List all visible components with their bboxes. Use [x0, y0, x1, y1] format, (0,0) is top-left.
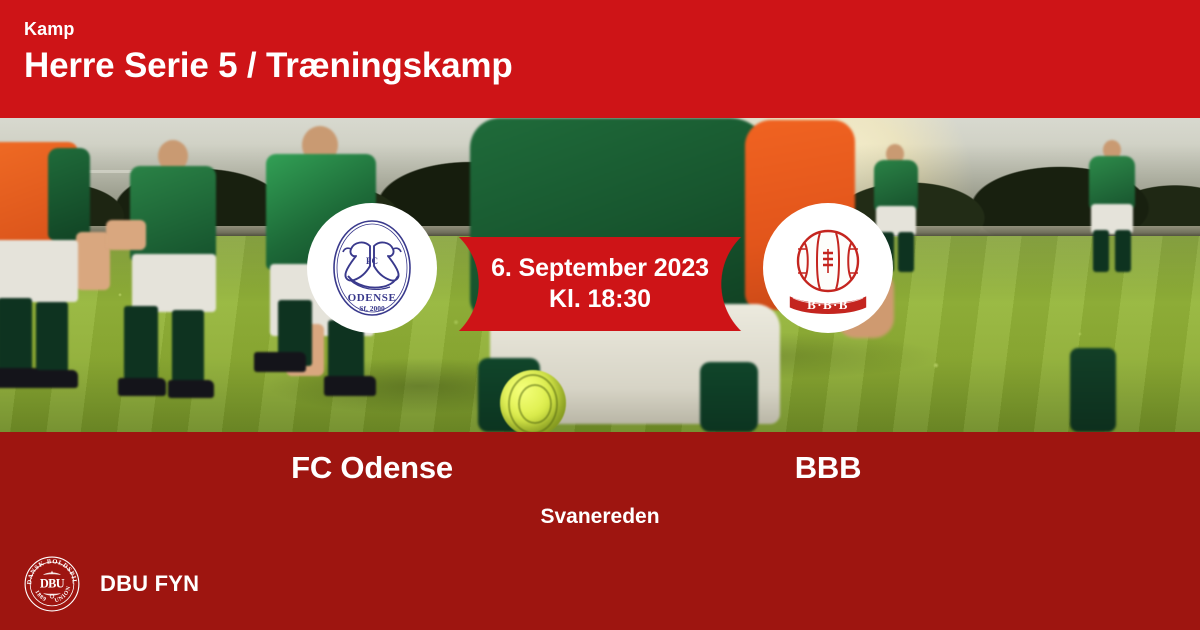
- poster-footer: DANSK BOLDSPIL 1889 UNION DBU DBU FYN: [0, 538, 1200, 630]
- page-title: Herre Serie 5 / Træningskamp: [24, 43, 1176, 89]
- player-silhouette: [1075, 140, 1155, 310]
- foreground-player-sock-right: [700, 362, 758, 432]
- team-names-row: FC Odense BBB: [0, 432, 1200, 504]
- home-team-crest: FC ODENSE Sf. 2000: [307, 203, 437, 333]
- footer-label: DBU FYN: [100, 571, 199, 597]
- away-team-name: BBB: [618, 448, 1038, 488]
- svg-text:FC: FC: [366, 256, 378, 266]
- dbu-seal-icon: DANSK BOLDSPIL 1889 UNION DBU: [24, 556, 80, 612]
- background-player-sock: [1070, 348, 1116, 432]
- player-silhouette: [0, 132, 106, 432]
- svg-text:Sf. 2000: Sf. 2000: [359, 304, 385, 313]
- dbu-monogram: DBU: [40, 576, 65, 590]
- bbb-football-banner-crest-icon: B·B·B: [776, 216, 880, 320]
- match-time: Kl. 18:30: [549, 284, 651, 315]
- away-crest-banner-text: B·B·B: [807, 297, 849, 312]
- svg-text:ODENSE: ODENSE: [348, 292, 397, 304]
- svg-text:1889: 1889: [33, 589, 47, 603]
- header-kicker: Kamp: [24, 18, 1176, 40]
- match-date-ribbon: 6. September 2023 Kl. 18:30: [421, 237, 779, 331]
- poster-header: Kamp Herre Serie 5 / Træningskamp: [0, 0, 1200, 118]
- match-date: 6. September 2023: [491, 253, 709, 284]
- ribbon-text: 6. September 2023 Kl. 18:30: [421, 237, 779, 331]
- dbu-ring-year: 1889: [33, 589, 47, 603]
- match-poster: Kamp Herre Serie 5 / Træningskamp: [0, 0, 1200, 630]
- away-team-crest: B·B·B: [763, 203, 893, 333]
- football-icon: [500, 370, 566, 432]
- fc-odense-swans-crest-icon: FC ODENSE Sf. 2000: [320, 216, 424, 320]
- venue-name: Svanereden: [0, 503, 1200, 530]
- home-team-name: FC Odense: [162, 448, 582, 488]
